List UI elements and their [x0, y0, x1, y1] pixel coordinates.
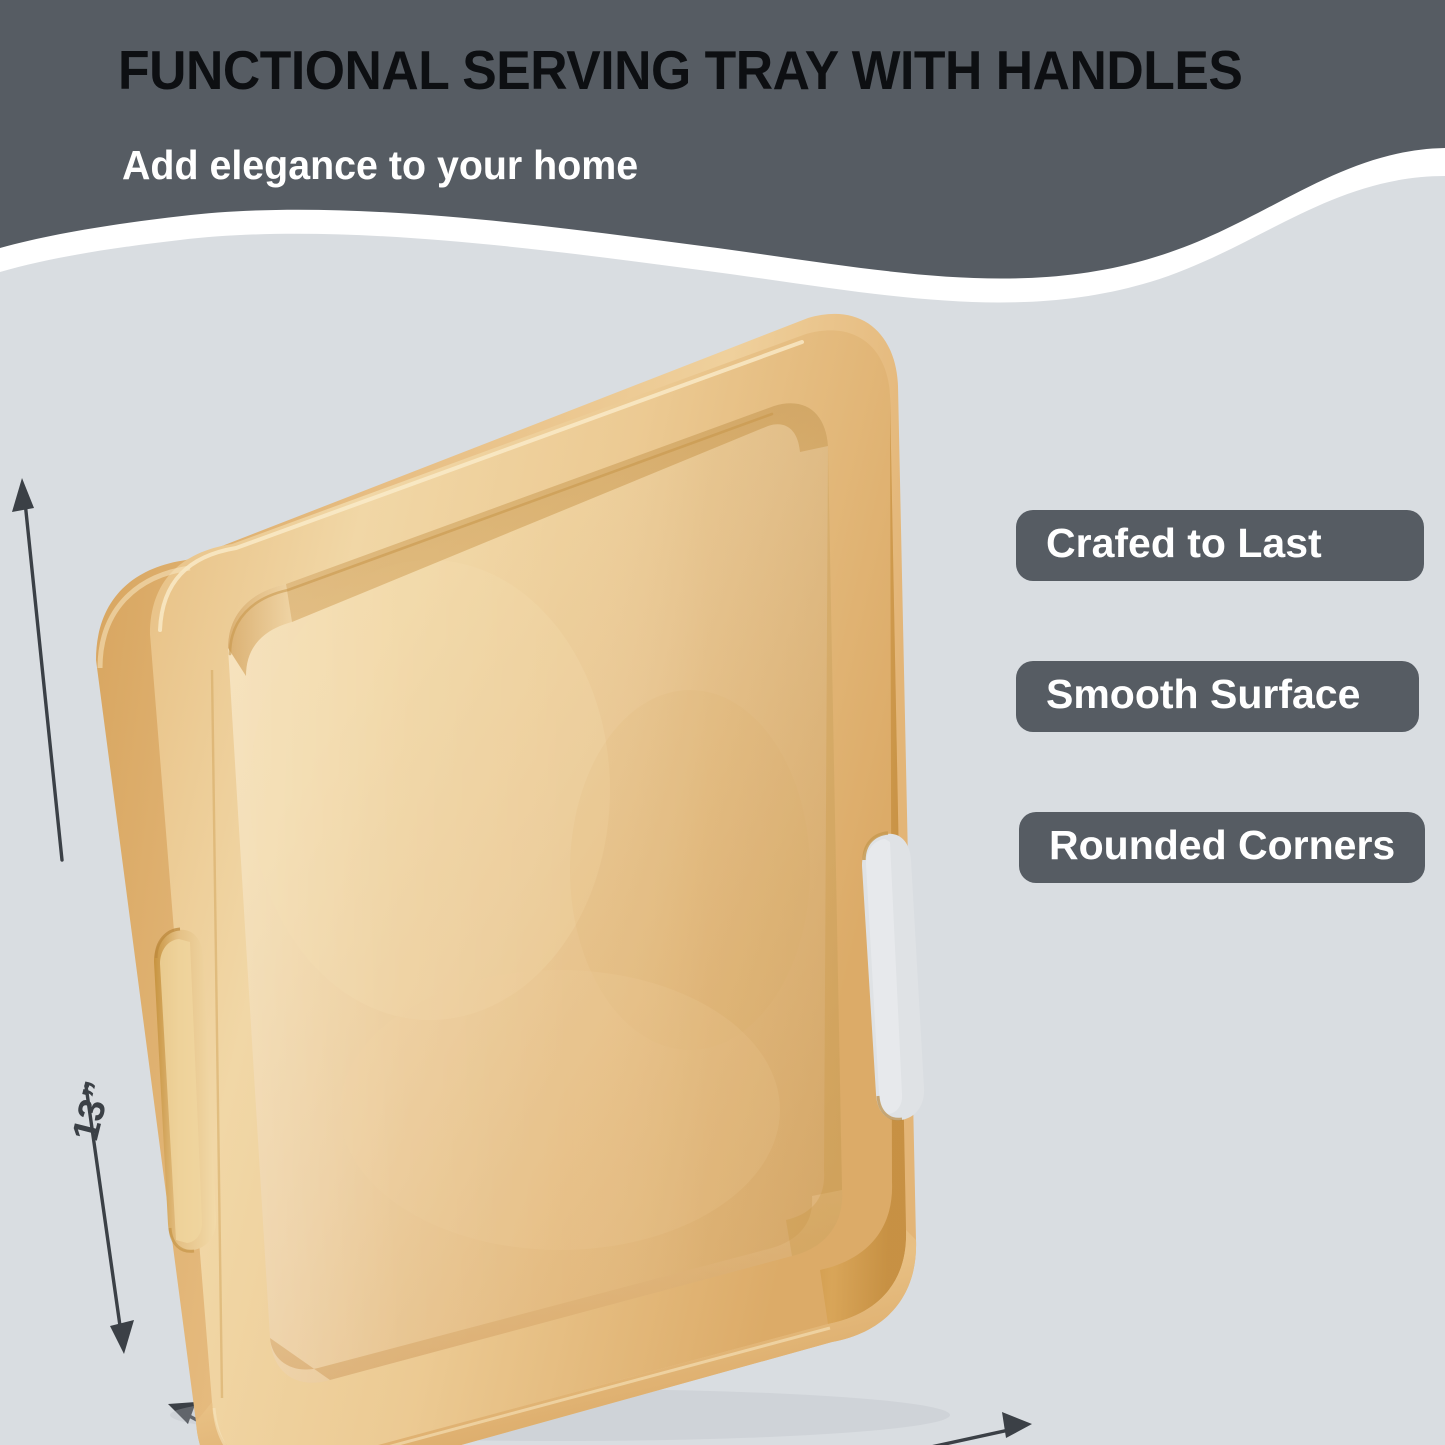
serving-tray-illustration: [0, 230, 1060, 1445]
feature-badge-crafted-to-last: Crafed to Last: [1016, 510, 1424, 581]
feature-badge-smooth-surface: Smooth Surface: [1016, 661, 1419, 732]
feature-badge-rounded-corners: Rounded Corners: [1019, 812, 1425, 883]
product-infographic: 13” 13” 1.57” Crafed to Last Smooth Surf…: [0, 0, 1445, 1445]
page-title: FUNCTIONAL SERVING TRAY WITH HANDLES: [118, 38, 1242, 102]
product-image-stage: 13” 13” 1.57”: [0, 230, 1060, 1445]
page-subtitle: Add elegance to your home: [122, 142, 638, 189]
feature-badge-list: Crafed to Last Smooth Surface Rounded Co…: [1016, 510, 1436, 883]
header-banner: FUNCTIONAL SERVING TRAY WITH HANDLES Add…: [0, 0, 1445, 330]
tray-body: [96, 314, 950, 1445]
